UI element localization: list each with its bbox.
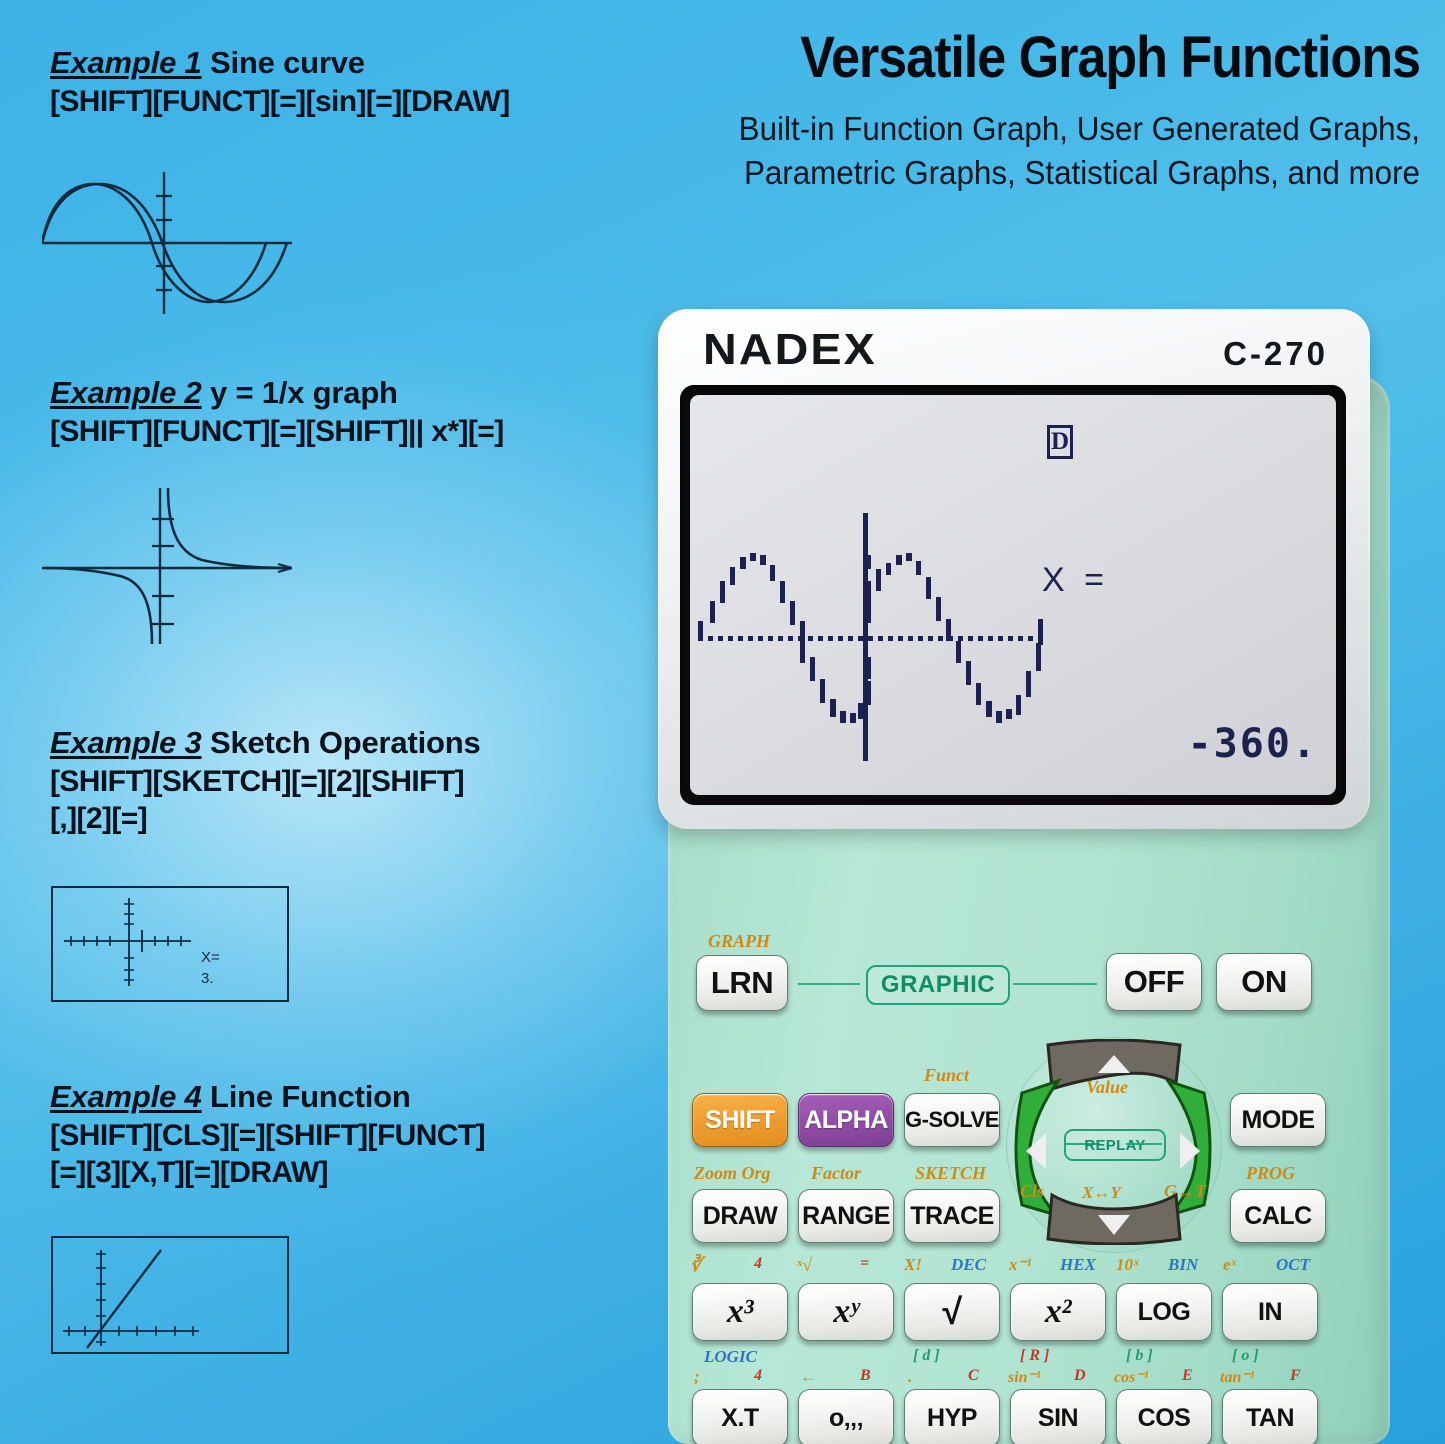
example-4-block: Example 4 Line Function [SHIFT][CLS][=][… — [50, 1078, 485, 1191]
key-cos[interactable]: COS — [1116, 1389, 1212, 1444]
example-3-tag: Example 3 — [50, 725, 202, 760]
header: Versatile Graph Functions Built-in Funct… — [660, 28, 1420, 195]
sqrt-above-right-label: DEC — [951, 1255, 986, 1275]
reciprocal-curve-thumbnail — [42, 486, 292, 646]
example-3-block: Example 3 Sketch Operations [SHIFT][SKET… — [50, 724, 481, 837]
x2-above-left-label: x⁻¹ — [1009, 1255, 1032, 1275]
example-3-keys-line2: [,][2][=] — [50, 801, 481, 836]
key-degrees[interactable]: о‚‚‚ — [798, 1389, 894, 1444]
line-graph-thumbnail — [51, 1236, 289, 1354]
key-hyp[interactable]: HYP — [904, 1389, 1000, 1444]
svg-text:3.: 3. — [201, 970, 214, 987]
key-mode[interactable]: MODE — [1230, 1093, 1326, 1147]
page-title: Versatile Graph Functions — [736, 28, 1420, 87]
example-3-heading: Example 3 Sketch Operations — [50, 724, 481, 762]
example-2-keys: [SHIFT][FUNCT][=][SHIFT]|| x*][=] — [50, 414, 504, 449]
key-off[interactable]: OFF — [1106, 953, 1202, 1011]
sin-above-left-label: sin⁻¹ — [1008, 1367, 1041, 1387]
graphic-line-left — [798, 983, 860, 985]
sketch-axes-thumbnail: X= 3. — [51, 886, 289, 1002]
x2-above-right-label: HEX — [1060, 1255, 1096, 1275]
example-1-name: Sine curve — [210, 45, 365, 80]
example-1-keys: [SHIFT][FUNCT][=][sin][=][DRAW] — [50, 84, 510, 119]
model-number: C-270 — [1223, 335, 1328, 373]
keypad: GRAPH LRN GRAPHIC OFF ON Funct SHIFT ALP… — [668, 375, 1390, 1444]
example-3-keys-line1: [SHIFT][SKETCH][=][2][SHIFT] — [50, 764, 481, 799]
page-subtitle: Built-in Function Graph, User Generated … — [698, 107, 1420, 195]
example-2-heading: Example 2 y = 1/x graph — [50, 374, 504, 412]
example-2-block: Example 2 y = 1/x graph [SHIFT][FUNCT][=… — [50, 374, 504, 449]
graphic-mode-pill: GRAPHIC — [866, 965, 1010, 1005]
draw-above-label: Zoom Org — [694, 1163, 771, 1184]
example-4-keys-line1: [SHIFT][CLS][=][SHIFT][FUNCT] — [50, 1118, 485, 1153]
log-above-right-label: BIN — [1168, 1255, 1198, 1275]
example-4-tag: Example 4 — [50, 1079, 202, 1114]
sqrt-above-left-label: X! — [904, 1255, 922, 1275]
xy-above-left-label: ˣ√ — [796, 1255, 812, 1276]
gsolve-above-label: Funct — [924, 1065, 969, 1086]
example-4-heading: Example 4 Line Function — [50, 1078, 485, 1116]
example-1-tag: Example 1 — [50, 45, 202, 80]
cos-above-left-label: cos⁻¹ — [1114, 1367, 1149, 1387]
key-x-to-y[interactable]: xʸ — [798, 1283, 894, 1341]
replay-line-right — [1126, 1143, 1162, 1145]
range-above-label: Factor — [811, 1163, 861, 1184]
replay-pill: REPLAY — [1064, 1129, 1166, 1161]
key-x-t[interactable]: X.T — [692, 1389, 788, 1444]
cos-above-right-label: E — [1182, 1367, 1193, 1385]
key-trace[interactable]: TRACE — [904, 1189, 1000, 1243]
x3-below-label: LOGIC — [704, 1347, 757, 1367]
in-above-left-label: eˣ — [1223, 1255, 1236, 1275]
example-4-name: Line Function — [210, 1079, 411, 1114]
example-4-keys-line2: [=][3][X,T][=][DRAW] — [50, 1155, 485, 1190]
tan-above-right-label: F — [1290, 1367, 1301, 1385]
example-2-name: y = 1/x graph — [210, 375, 398, 410]
x3-above-left-label: ∛ — [690, 1255, 701, 1276]
key-lrn[interactable]: LRN — [696, 955, 788, 1011]
key-g-solve[interactable]: G-SOLVE — [904, 1093, 1000, 1147]
xy-above-right-label: = — [860, 1255, 869, 1273]
key-alpha[interactable]: ALPHA — [798, 1093, 894, 1147]
key-square-root[interactable]: √ — [904, 1283, 1000, 1341]
xt-above-right-label: 4 — [754, 1367, 762, 1385]
key-x-cubed[interactable]: x³ — [692, 1283, 788, 1341]
key-log[interactable]: LOG — [1116, 1283, 1212, 1341]
key-x-squared[interactable]: x² — [1010, 1283, 1106, 1341]
sqrt-below-label: [ d ] — [913, 1347, 940, 1365]
dpad-up-label: Value — [1086, 1077, 1128, 1098]
sin-above-right-label: D — [1074, 1367, 1086, 1385]
key-tan[interactable]: TAN — [1222, 1389, 1318, 1444]
tan-above-left-label: tan⁻¹ — [1220, 1367, 1255, 1387]
calculator: NADEX C-270 D — [668, 375, 1428, 1444]
example-1-heading: Example 1 Sine curve — [50, 44, 510, 82]
promo-image: Example 1 Sine curve [SHIFT][FUNCT][=][s… — [0, 0, 1445, 1444]
example-3-name: Sketch Operations — [210, 725, 481, 760]
deg-above-left-label: ← — [800, 1367, 817, 1387]
x2-below-label: [ R ] — [1020, 1347, 1049, 1365]
calc-above-label: PROG — [1246, 1163, 1295, 1184]
examples-column: Example 1 Sine curve [SHIFT][FUNCT][=][s… — [0, 0, 660, 1444]
sine-curve-thumbnail — [42, 168, 292, 318]
xt-above-left-label: ; — [694, 1367, 700, 1387]
key-on[interactable]: ON — [1216, 953, 1312, 1011]
dpad-down-label: X↔Y — [1082, 1183, 1121, 1203]
svg-text:X=: X= — [201, 949, 220, 966]
log-below-label: [ b ] — [1126, 1347, 1153, 1365]
key-sin[interactable]: SIN — [1010, 1389, 1106, 1444]
log-above-left-label: 10ˣ — [1116, 1255, 1139, 1275]
key-calc[interactable]: CALC — [1230, 1189, 1326, 1243]
hyp-above-right-label: C — [968, 1367, 979, 1385]
lrn-above-label: GRAPH — [708, 931, 770, 952]
trace-above-label: SKETCH — [915, 1163, 986, 1184]
example-1-block: Example 1 Sine curve [SHIFT][FUNCT][=][s… — [50, 44, 510, 119]
key-range[interactable]: RANGE — [798, 1189, 894, 1243]
hyp-above-left-label: . — [908, 1367, 912, 1387]
key-draw[interactable]: DRAW — [692, 1189, 788, 1243]
x3-above-right-label: 4 — [754, 1255, 762, 1273]
brand-logo: NADEX — [703, 325, 877, 375]
in-above-right-label: OCT — [1276, 1255, 1310, 1275]
key-in[interactable]: IN — [1222, 1283, 1318, 1341]
deg-above-right-label: B — [860, 1367, 871, 1385]
in-below-label: [ o ] — [1232, 1347, 1259, 1365]
key-shift[interactable]: SHIFT — [692, 1093, 788, 1147]
example-2-tag: Example 2 — [50, 375, 202, 410]
graphic-line-right — [1013, 983, 1097, 985]
